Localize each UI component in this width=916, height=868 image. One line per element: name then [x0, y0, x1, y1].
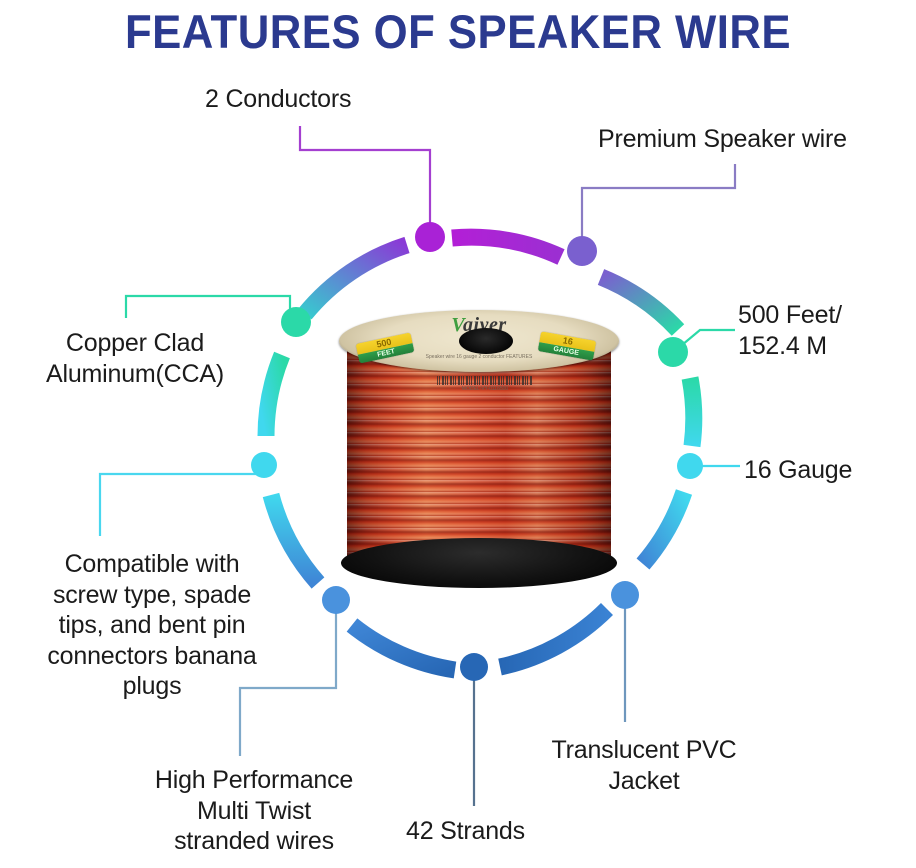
- node-dot-hiperf: [322, 586, 350, 614]
- node-dot-premium: [567, 236, 597, 266]
- ring-arc-top: [452, 237, 561, 257]
- connector-conductors: [300, 126, 430, 228]
- node-dot-compat: [251, 452, 277, 478]
- label-fineprint: Speaker wire 16 gauge 2 conductor FEATUR…: [379, 354, 579, 362]
- feature-label-strands: 42 Strands: [406, 816, 525, 847]
- product-image-speaker-wire-spool: Vaiyer 500 FEET 16 GAUGE Speaker wire 16…: [333, 310, 625, 590]
- barcode-label: MODEL-VY-0116500: [437, 386, 533, 392]
- ring-arc-lower-right: [643, 492, 684, 564]
- connector-premium: [582, 164, 735, 243]
- ring-arc-bottom-left: [352, 625, 455, 670]
- feature-label-length: 500 Feet/ 152.4 M: [738, 300, 842, 361]
- spool-center-hole: [459, 328, 513, 354]
- connector-feet: [682, 330, 735, 345]
- connector-compat: [100, 474, 256, 536]
- feature-label-gauge: 16 Gauge: [744, 455, 852, 486]
- node-dot-feet: [658, 337, 688, 367]
- node-dot-strands: [460, 653, 488, 681]
- connector-cca: [126, 296, 290, 318]
- feature-label-cca: Copper Clad Aluminum(CCA): [30, 328, 240, 389]
- barcode-icon: [437, 376, 533, 385]
- ring-arc-left-lower: [271, 495, 318, 583]
- node-dot-cca: [281, 307, 311, 337]
- ring-arc-right: [690, 378, 694, 446]
- node-dot-gauge: [677, 453, 703, 479]
- infographic-canvas: FEATURES OF SPEAKER WIRE: [0, 0, 916, 868]
- node-dot-conductors: [415, 222, 445, 252]
- feature-label-premium: Premium Speaker wire: [598, 124, 847, 155]
- feature-label-pvc-jacket: Translucent PVC Jacket: [528, 735, 760, 796]
- feature-label-compatibility: Compatible with screw type, spade tips, …: [26, 549, 278, 702]
- ring-arc-bottom-right: [500, 609, 607, 667]
- ring-arc-upper-left: [305, 245, 407, 314]
- spool-bottom-flange: [341, 538, 617, 588]
- ring-arc-left-upper: [266, 355, 282, 436]
- feature-label-conductors: 2 Conductors: [205, 84, 351, 115]
- spool-top-label: Vaiyer 500 FEET 16 GAUGE Speaker wire 16…: [339, 310, 619, 372]
- feature-label-high-performance: High Performance Multi Twist stranded wi…: [118, 765, 390, 857]
- brand-initial: V: [451, 314, 463, 336]
